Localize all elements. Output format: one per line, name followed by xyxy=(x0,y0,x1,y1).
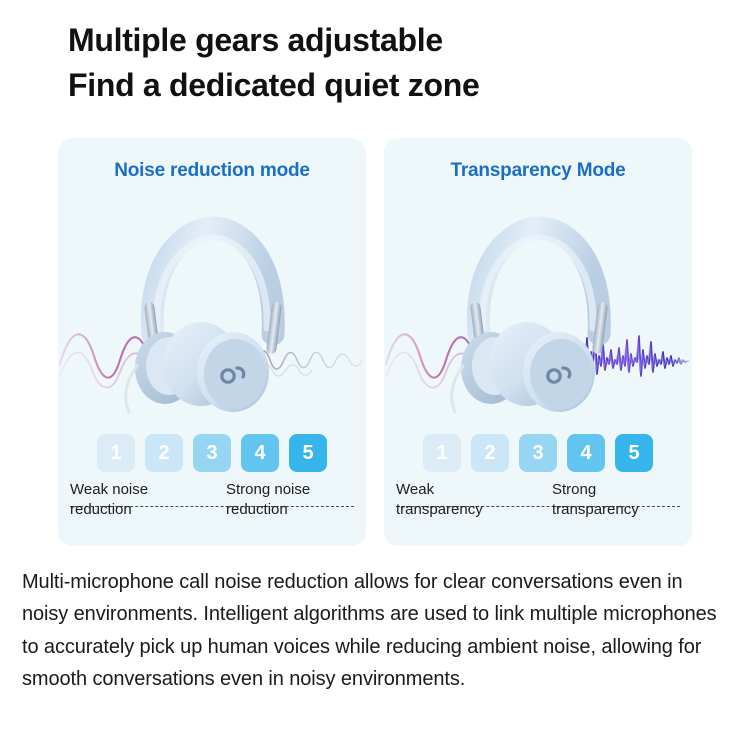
card-title-noise-reduction: Noise reduction mode xyxy=(58,160,366,182)
scale-label-strong-line2: reduction xyxy=(226,500,358,520)
scale-label-strong-line2: transparency xyxy=(552,500,684,520)
scale-label-weak-line2: transparency xyxy=(396,500,528,520)
level-tiles-transparency[interactable]: 1 2 3 4 5 xyxy=(384,434,692,472)
level-tile-2[interactable]: 2 xyxy=(145,434,183,472)
scale-label-strong-line1: Strong noise xyxy=(226,480,358,500)
level-tiles-noise-reduction[interactable]: 1 2 3 4 5 xyxy=(58,434,366,472)
level-tile-1[interactable]: 1 xyxy=(423,434,461,472)
level-tile-2[interactable]: 2 xyxy=(471,434,509,472)
card-title-transparency: Transparency Mode xyxy=(384,160,692,182)
scale-label-weak-line1: Weak noise xyxy=(70,480,202,500)
scale-label-weak-line2: reduction xyxy=(70,500,202,520)
scale-label-weak: Weak transparency xyxy=(396,480,528,520)
scale-label-weak-line1: Weak xyxy=(396,480,528,500)
scale-label-weak: Weak noise reduction xyxy=(70,480,202,520)
scale-label-strong-line1: Strong xyxy=(552,480,684,500)
headphones-icon-noise-reduction xyxy=(117,216,307,416)
mode-cards-container: Noise reduction mode xyxy=(58,138,692,546)
level-tile-4[interactable]: 4 xyxy=(241,434,279,472)
scale-label-strong: Strong transparency xyxy=(552,480,684,520)
card-transparency[interactable]: Transparency Mode xyxy=(384,138,692,546)
scale-labels-transparency: Weak transparency Strong transparency xyxy=(396,480,680,534)
headline-line-2: Find a dedicated quiet zone xyxy=(68,63,708,108)
level-tile-1[interactable]: 1 xyxy=(97,434,135,472)
scale-label-strong: Strong noise reduction xyxy=(226,480,358,520)
description-paragraph: Multi-microphone call noise reduction al… xyxy=(22,566,734,696)
level-tile-3[interactable]: 3 xyxy=(193,434,231,472)
headphones-icon-transparency xyxy=(443,216,633,416)
level-tile-5[interactable]: 5 xyxy=(615,434,653,472)
scale-labels-noise-reduction: Weak noise reduction Strong noise reduct… xyxy=(70,480,354,534)
headline-line-1: Multiple gears adjustable xyxy=(68,18,708,63)
level-tile-4[interactable]: 4 xyxy=(567,434,605,472)
page-headline: Multiple gears adjustable Find a dedicat… xyxy=(68,18,708,109)
level-tile-3[interactable]: 3 xyxy=(519,434,557,472)
card-noise-reduction[interactable]: Noise reduction mode xyxy=(58,138,366,546)
level-tile-5[interactable]: 5 xyxy=(289,434,327,472)
